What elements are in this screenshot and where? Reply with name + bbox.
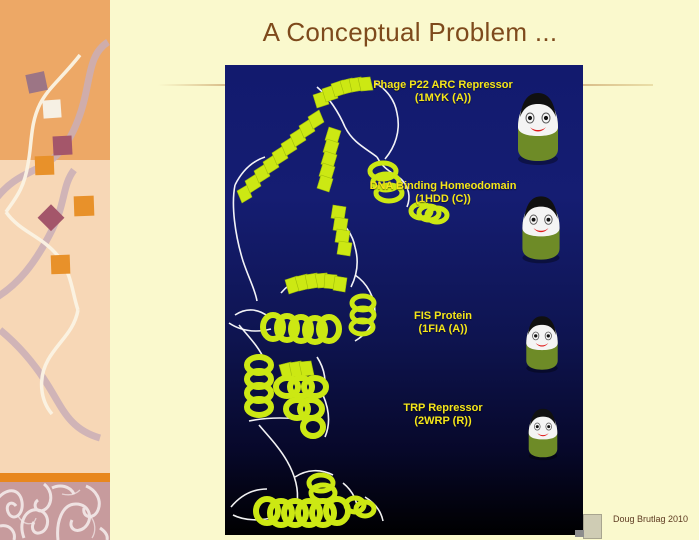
page-title: A Conceptual Problem ... [150, 17, 670, 48]
matryoshka-doll-icon-2 [515, 190, 567, 266]
structure-pdb-2: (1HDD (C)) [343, 193, 543, 206]
image-corner-handle-secondary[interactable] [575, 530, 584, 537]
structure-pdb-4: (2WRP (R)) [343, 415, 543, 428]
structure-label-3: FIS Protein (1FIA (A)) [343, 310, 543, 336]
footer-attribution: Doug Brutlag 2010 [613, 514, 688, 524]
sidebar-square [51, 255, 71, 275]
matryoshka-doll-icon-1 [510, 87, 566, 167]
sidebar-floral-pattern [0, 482, 110, 540]
structure-name-2: DNA Binding Homeodomain [343, 180, 543, 193]
structure-pdb-3: (1FIA (A)) [343, 323, 543, 336]
sidebar-ribbon-decoration [0, 0, 110, 473]
sidebar-square [74, 196, 95, 217]
image-corner-handle[interactable] [583, 514, 602, 539]
structure-label-2: DNA Binding Homeodomain (1HDD (C)) [343, 180, 543, 206]
sidebar-square [35, 156, 55, 176]
title-rule-right [583, 84, 653, 86]
matryoshka-doll-icon-3 [520, 311, 564, 375]
structure-name-4: TRP Repressor [343, 402, 543, 415]
structure-name-3: FIS Protein [343, 310, 543, 323]
matryoshka-doll-icon-4 [523, 404, 563, 462]
sidebar-square [25, 71, 48, 94]
structure-label-4: TRP Repressor (2WRP (R)) [343, 402, 543, 428]
sidebar-orange-stripe [0, 473, 110, 482]
sidebar-square [53, 135, 73, 155]
decorative-sidebar [0, 0, 110, 540]
sidebar-square [42, 99, 61, 118]
title-rule-left [158, 84, 226, 86]
slide-image-panel: Phage P22 ARC Repressor (1MYK (A)) DNA B… [225, 65, 583, 535]
